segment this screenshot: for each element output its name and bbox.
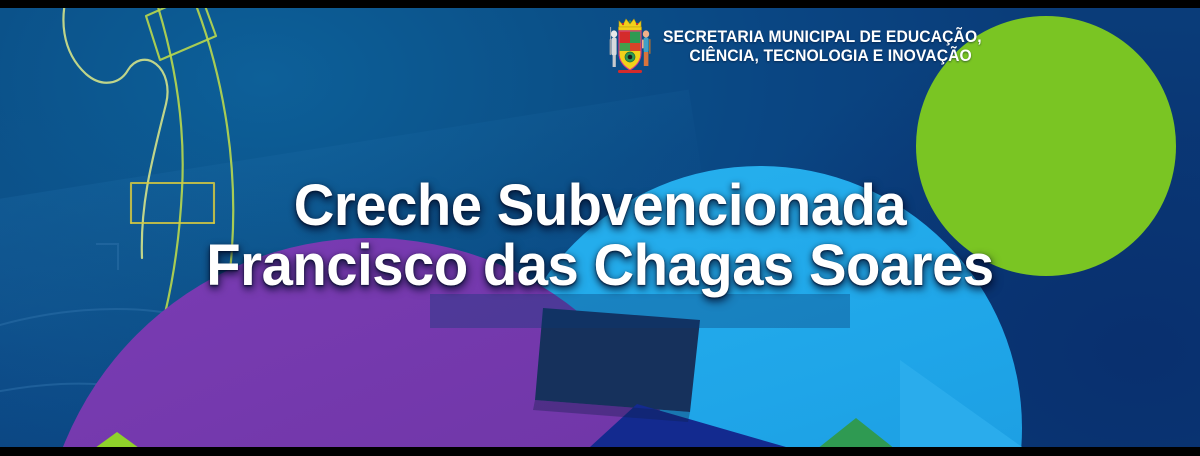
letterbox-top	[0, 0, 1200, 8]
crest-supporter-left	[610, 27, 618, 67]
crest-supporter-right	[642, 30, 651, 66]
banner-artwork-stage: SECRETARIA MUNICIPAL DE EDUCAÇÃO, CIÊNCI…	[0, 8, 1200, 447]
secretariat-line-2: CIÊNCIA, TECNOLOGIA E INOVAÇÃO	[690, 47, 972, 66]
school-banner: SECRETARIA MUNICIPAL DE EDUCAÇÃO, CIÊNCI…	[0, 0, 1200, 456]
secretariat-header-lockup: SECRETARIA MUNICIPAL DE EDUCAÇÃO, CIÊNCI…	[606, 15, 998, 77]
letterbox-bottom	[0, 447, 1200, 456]
shape-blend-overlay	[0, 8, 1200, 447]
secretariat-title-text: SECRETARIA MUNICIPAL DE EDUCAÇÃO, CIÊNCI…	[663, 26, 998, 66]
secretariat-line-1: SECRETARIA MUNICIPAL DE EDUCAÇÃO,	[663, 28, 982, 47]
municipal-coat-of-arms-icon	[606, 15, 654, 77]
